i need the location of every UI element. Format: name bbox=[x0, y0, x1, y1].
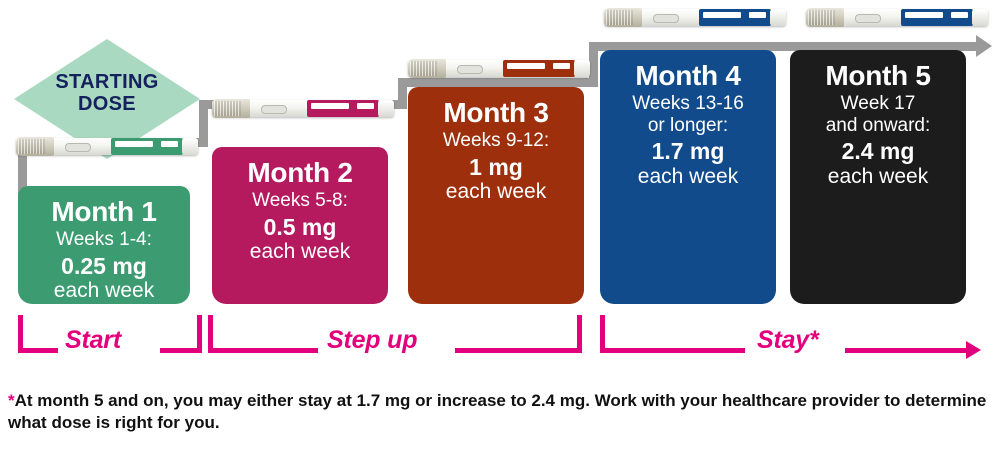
pen-dose-window bbox=[65, 143, 91, 152]
injector-pen-month-4 bbox=[604, 5, 786, 31]
pen-label-band bbox=[699, 9, 772, 26]
step-card-month-1[interactable]: Month 1 Weeks 1-4: 0.25 mg each week bbox=[18, 186, 190, 304]
pen-needle-tip bbox=[574, 61, 590, 76]
pen-brand-mark bbox=[905, 12, 943, 19]
bracket-stepup-right-tick bbox=[577, 315, 582, 353]
bracket-stepup-left-base bbox=[208, 348, 318, 353]
step-weeks: Week 17 bbox=[841, 93, 916, 114]
dose-escalation-diagram: STARTING DOSE bbox=[0, 0, 1000, 455]
injector-pen-month-2 bbox=[212, 96, 394, 122]
step-card-month-2[interactable]: Month 2 Weeks 5-8: 0.5 mg each week bbox=[212, 147, 388, 304]
step-each: each week bbox=[446, 180, 546, 204]
pen-dose-badge bbox=[951, 12, 968, 18]
step-dose: 0.25 mg bbox=[61, 254, 147, 280]
pen-needle-tip bbox=[182, 139, 198, 154]
step-title: Month 4 bbox=[635, 60, 740, 91]
pen-brand-mark bbox=[507, 63, 545, 70]
pen-label-band bbox=[307, 100, 380, 117]
step-title: Month 5 bbox=[825, 60, 930, 91]
bracket-stepup-right-base bbox=[455, 348, 580, 353]
pen-label-band bbox=[111, 138, 184, 155]
starting-dose-line1: STARTING bbox=[14, 71, 200, 93]
pen-dose-badge bbox=[749, 12, 766, 18]
step-each: each week bbox=[250, 240, 350, 264]
step-weeks: Weeks 13-16 bbox=[632, 93, 744, 114]
pen-needle-tip bbox=[378, 101, 394, 116]
pen-cap bbox=[212, 99, 250, 118]
step-card-month-5[interactable]: Month 5 Week 17 and onward: 2.4 mg each … bbox=[790, 50, 966, 304]
phase-label-stay: Stay* bbox=[757, 326, 819, 355]
pen-brand-mark bbox=[115, 141, 153, 148]
step-weeks-2: or longer: bbox=[648, 115, 728, 136]
pen-label-band bbox=[503, 60, 576, 77]
step-card-month-4[interactable]: Month 4 Weeks 13-16 or longer: 1.7 mg ea… bbox=[600, 50, 776, 304]
pen-dose-window bbox=[261, 105, 287, 114]
pen-cap bbox=[604, 8, 642, 27]
step-weeks-2: and onward: bbox=[826, 115, 931, 136]
step-title: Month 1 bbox=[51, 196, 156, 227]
pen-needle-tip bbox=[770, 10, 786, 25]
step-card-month-3[interactable]: Month 3 Weeks 9-12: 1 mg each week bbox=[408, 87, 584, 304]
step-dose: 2.4 mg bbox=[842, 139, 915, 165]
pen-dose-window bbox=[855, 14, 881, 23]
starting-dose-label: STARTING DOSE bbox=[14, 71, 200, 116]
step-weeks: Weeks 5-8: bbox=[252, 190, 348, 211]
step-title: Month 2 bbox=[247, 157, 352, 188]
injector-pen-month-5 bbox=[806, 5, 988, 31]
footnote-text: At month 5 and on, you may either stay a… bbox=[8, 391, 986, 432]
footnote: *At month 5 and on, you may either stay … bbox=[8, 390, 988, 434]
bracket-start-left-base bbox=[18, 348, 58, 353]
pen-dose-badge bbox=[553, 63, 570, 69]
pen-dose-window bbox=[653, 14, 679, 23]
phase-label-step-up: Step up bbox=[327, 326, 417, 355]
step-dose: 0.5 mg bbox=[264, 215, 337, 241]
pen-dose-badge bbox=[161, 141, 178, 147]
pen-needle-tip bbox=[972, 10, 988, 25]
step-dose: 1 mg bbox=[469, 155, 523, 181]
pen-dose-badge bbox=[357, 103, 374, 109]
step-weeks: Weeks 1-4: bbox=[56, 229, 152, 250]
phase-label-start: Start bbox=[65, 326, 121, 355]
pen-label-band bbox=[901, 9, 974, 26]
step-weeks: Weeks 9-12: bbox=[443, 130, 549, 151]
stair-arrow-icon bbox=[976, 35, 992, 57]
starting-dose-line2: DOSE bbox=[14, 93, 200, 115]
step-each: each week bbox=[828, 165, 928, 189]
pen-dose-window bbox=[457, 65, 483, 74]
pen-brand-mark bbox=[703, 12, 741, 19]
bracket-start-right-base bbox=[160, 348, 202, 353]
bracket-stay-left-base bbox=[600, 348, 745, 353]
step-each: each week bbox=[54, 279, 154, 303]
pen-brand-mark bbox=[311, 103, 349, 110]
injector-pen-month-3 bbox=[408, 56, 590, 82]
step-each: each week bbox=[638, 165, 738, 189]
pen-cap bbox=[408, 59, 446, 78]
pen-cap bbox=[16, 137, 54, 156]
bracket-stay-arrow-icon bbox=[966, 341, 981, 359]
bracket-start-right-tick bbox=[197, 315, 202, 353]
footnote-marker: * bbox=[8, 391, 15, 410]
pen-cap bbox=[806, 8, 844, 27]
step-title: Month 3 bbox=[443, 97, 548, 128]
bracket-stay-right-base bbox=[845, 348, 970, 353]
injector-pen-month-1 bbox=[16, 134, 198, 160]
step-dose: 1.7 mg bbox=[652, 139, 725, 165]
